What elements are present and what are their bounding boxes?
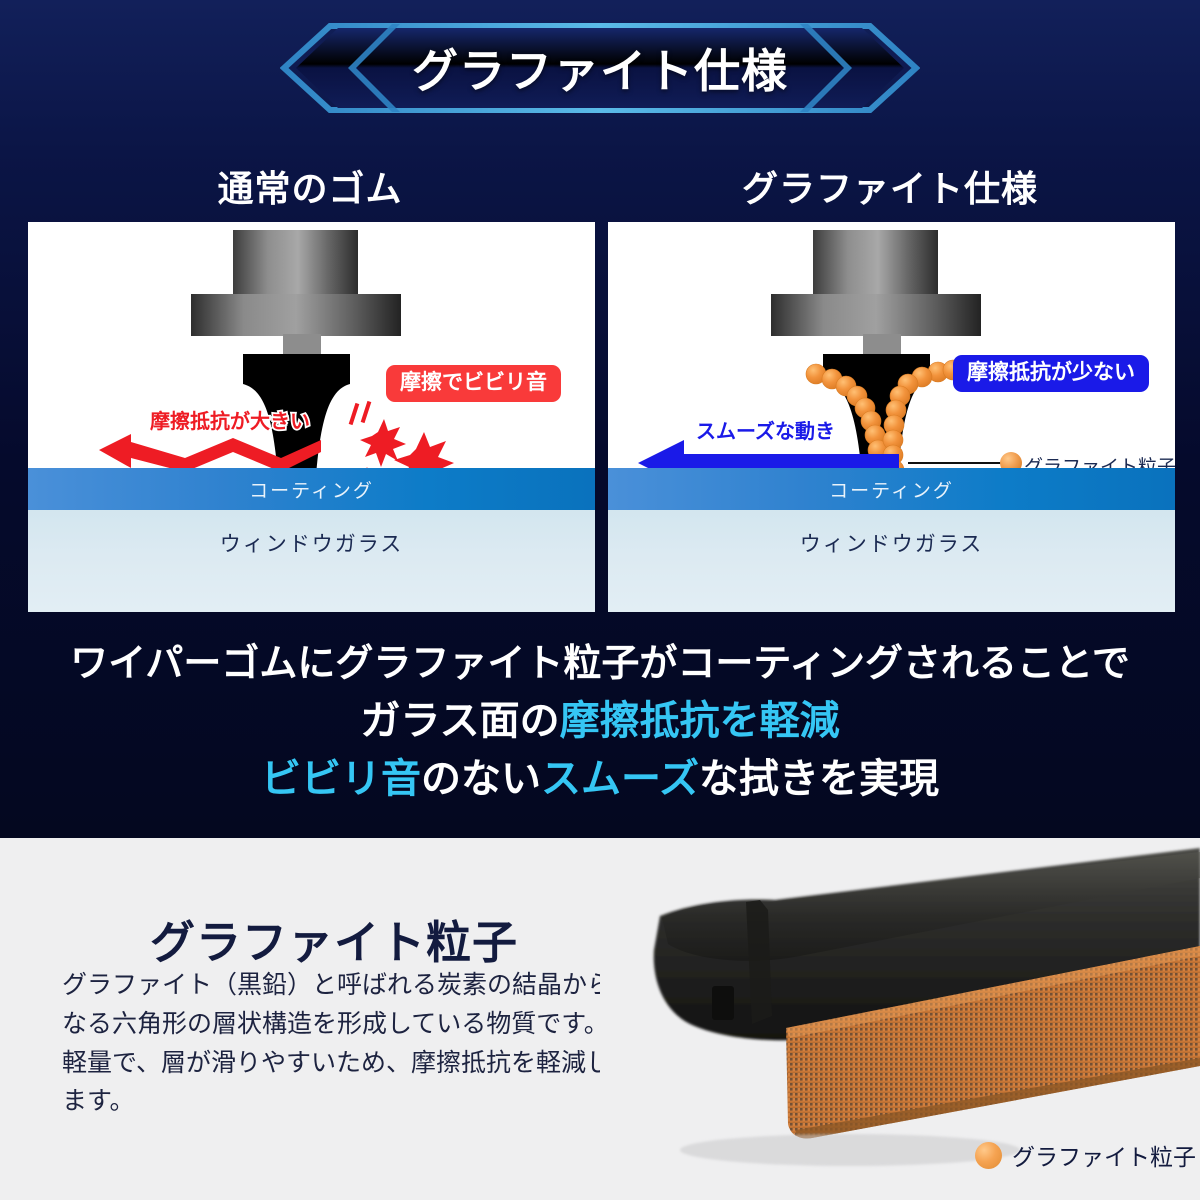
graphite-section-heading: グラファイト粒子 <box>150 906 518 971</box>
glass-label-left: ウィンドウガラス <box>220 528 404 558</box>
legend-graphite-label: グラファイト粒子 <box>1012 1138 1196 1172</box>
graphite-section-paragraph: グラファイト（黒鉛）と呼ばれる炭素の結晶からなる六角形の層状構造を形成している物… <box>62 966 632 1121</box>
summary-line-2: ガラス面の摩擦抵抗を軽減 <box>0 695 1200 747</box>
smooth-motion-label: スムーズな動き <box>696 422 835 442</box>
summary-line-2-highlight: 摩擦抵抗を軽減 <box>560 699 840 743</box>
legend-graphite-dot-icon <box>975 1142 1002 1169</box>
summary-line-3-mid: のない <box>421 757 541 801</box>
glass-layer-left: ウィンドウガラス <box>28 510 595 612</box>
coating-label-right: コーティング <box>829 476 954 503</box>
glass-layer-right: ウィンドウガラス <box>608 510 1175 612</box>
summary-line-1: ワイパーゴムにグラファイト粒子がコーティングされることで <box>0 640 1200 689</box>
graphite-rubber-diagram: 摩擦抵抗が少ない スムーズな動き グラファイト粒子 コーティング ウ <box>608 222 1175 612</box>
coating-layer-right: コーティング <box>608 468 1175 510</box>
summary-description: ワイパーゴムにグラファイト粒子がコーティングされることで ガラス面の摩擦抵抗を軽… <box>0 640 1200 805</box>
callout-leader-line <box>908 458 1003 468</box>
glass-label-right: ウィンドウガラス <box>800 528 984 558</box>
summary-line-3-highlight-1: ビビリ音 <box>261 757 421 801</box>
coating-label-left: コーティング <box>249 476 374 503</box>
low-friction-badge: 摩擦抵抗が少ない <box>953 355 1149 392</box>
photo-legend: グラファイト粒子 <box>975 1138 1196 1172</box>
summary-line-3-post: な拭きを実現 <box>699 757 939 801</box>
header-title: グラファイト仕様 <box>280 22 920 114</box>
header-banner: グラファイト仕様 <box>280 22 920 114</box>
summary-line-3: ビビリ音のないスムーズな拭きを実現 <box>0 753 1200 805</box>
top-section: グラファイト仕様 通常のゴム グラファイト仕様 <box>0 0 1200 838</box>
right-panel-title: グラファイト仕様 <box>605 160 1175 212</box>
infographic-page: グラファイト仕様 通常のゴム グラファイト仕様 <box>0 0 1200 1200</box>
normal-rubber-diagram: 摩擦でビビリ音 摩擦抵抗が大きい コーティング <box>28 222 595 612</box>
summary-line-3-highlight-2: スムーズ <box>541 757 699 801</box>
summary-line-2-pre: ガラス面の <box>360 699 559 743</box>
left-panel-title: 通常のゴム <box>25 160 595 212</box>
high-friction-label: 摩擦抵抗が大きい <box>150 412 310 432</box>
coating-layer-left: コーティング <box>28 468 595 510</box>
